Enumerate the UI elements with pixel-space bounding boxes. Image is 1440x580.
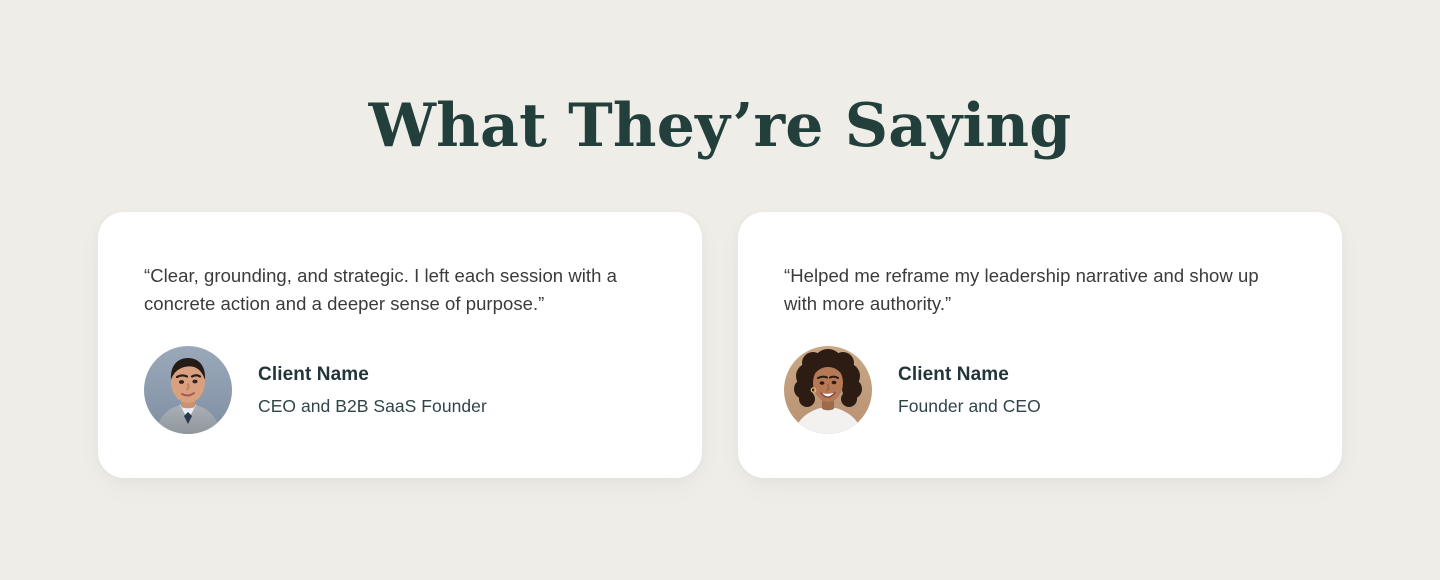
testimonial-card: “Clear, grounding, and strategic. I left… (98, 212, 702, 478)
avatar-photo-man-icon (144, 346, 232, 434)
testimonial-attribution: Client Name CEO and B2B SaaS Founder (144, 346, 656, 434)
page-title: What They’re Saying (0, 88, 1440, 164)
client-name: Client Name (898, 363, 1041, 387)
testimonials-section: What They’re Saying “Clear, grounding, a… (0, 0, 1440, 580)
testimonial-quote: “Helped me reframe my leadership narrati… (784, 262, 1284, 318)
client-name: Client Name (258, 363, 487, 387)
avatar (784, 346, 872, 434)
client-role: Founder and CEO (898, 395, 1041, 417)
avatar-photo-woman-icon (784, 346, 872, 434)
testimonial-card: “Helped me reframe my leadership narrati… (738, 212, 1342, 478)
attribution-text: Client Name Founder and CEO (898, 363, 1041, 417)
testimonial-attribution: Client Name Founder and CEO (784, 346, 1296, 434)
client-role: CEO and B2B SaaS Founder (258, 395, 487, 417)
avatar (144, 346, 232, 434)
testimonial-card-list: “Clear, grounding, and strategic. I left… (98, 212, 1342, 478)
testimonial-quote: “Clear, grounding, and strategic. I left… (144, 262, 644, 318)
attribution-text: Client Name CEO and B2B SaaS Founder (258, 363, 487, 417)
